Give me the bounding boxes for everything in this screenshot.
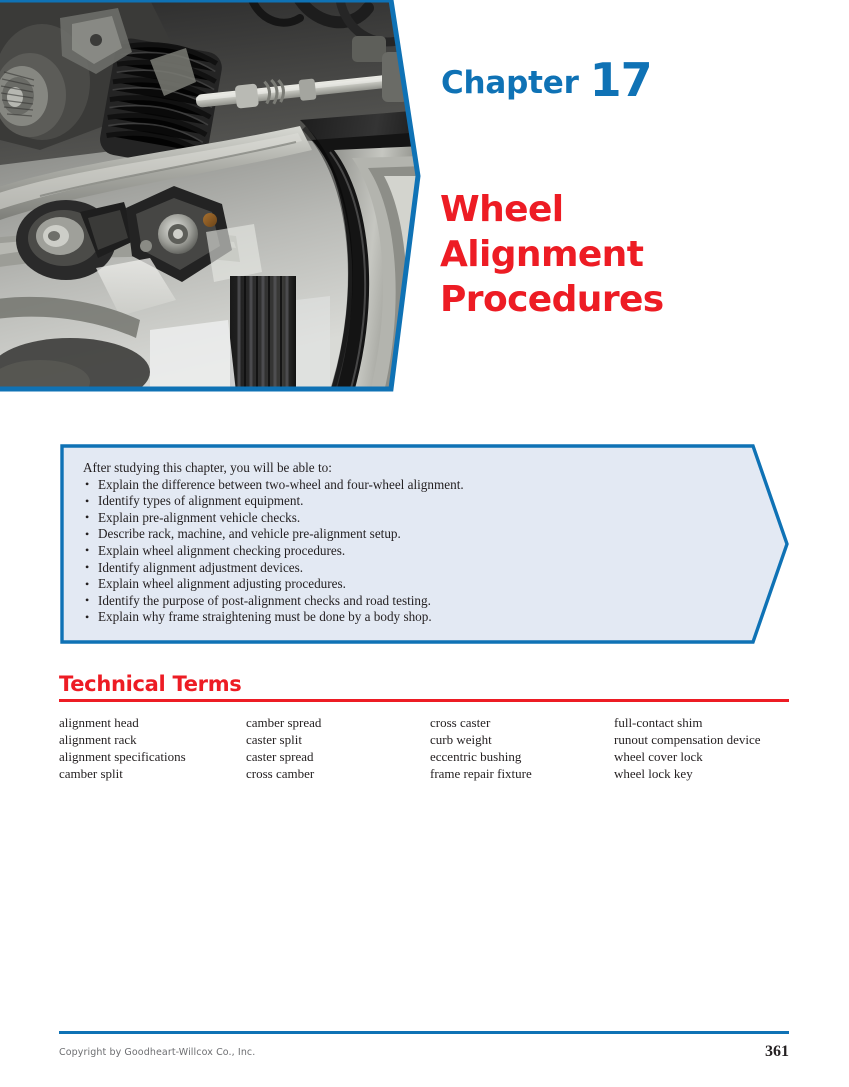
chapter-label: Chapter17: [441, 57, 652, 103]
technical-term: cross camber: [246, 765, 430, 782]
technical-term: eccentric bushing: [430, 748, 614, 765]
technical-term: camber spread: [246, 714, 430, 731]
technical-terms-columns: alignment head alignment rack alignment …: [59, 714, 789, 783]
technical-term: wheel cover lock: [614, 748, 789, 765]
technical-term: cross caster: [430, 714, 614, 731]
technical-terms-column: alignment head alignment rack alignment …: [59, 714, 246, 783]
page-title-line-2: Procedures: [440, 277, 770, 322]
page-title: Wheel Alignment Procedures: [440, 187, 770, 322]
objective-item: Explain pre-alignment vehicle checks.: [83, 510, 723, 527]
technical-term: curb weight: [430, 731, 614, 748]
technical-term: wheel lock key: [614, 765, 789, 782]
technical-term: caster split: [246, 731, 430, 748]
technical-term: full-contact shim: [614, 714, 789, 731]
technical-terms-column: full-contact shim runout compensation de…: [614, 714, 789, 783]
objective-item: Describe rack, machine, and vehicle pre-…: [83, 526, 723, 543]
technical-terms-column: camber spread caster split caster spread…: [246, 714, 430, 783]
objectives-content: After studying this chapter, you will be…: [83, 460, 723, 626]
objective-item: Explain why frame straightening must be …: [83, 609, 723, 626]
objective-item: Explain the difference between two-wheel…: [83, 477, 723, 494]
footer-copyright: Copyright by Goodheart-Willcox Co., Inc.: [59, 1047, 255, 1058]
technical-term: runout compensation device: [614, 731, 789, 748]
page-number: 361: [765, 1043, 789, 1061]
chapter-number: 17: [590, 53, 652, 107]
objectives-list: Explain the difference between two-wheel…: [83, 477, 723, 626]
technical-terms-column: cross caster curb weight eccentric bushi…: [430, 714, 614, 783]
technical-term: frame repair fixture: [430, 765, 614, 782]
technical-terms-rule: [59, 699, 789, 702]
objective-item: Identify alignment adjustment devices.: [83, 560, 723, 577]
technical-term: camber split: [59, 765, 246, 782]
page-title-line-1: Wheel Alignment: [440, 187, 770, 277]
technical-term: alignment head: [59, 714, 246, 731]
objectives-intro: After studying this chapter, you will be…: [83, 460, 723, 477]
technical-terms-section: Technical Terms alignment head alignment…: [59, 672, 789, 782]
technical-term: alignment specifications: [59, 748, 246, 765]
chapter-hero-photo: [0, 0, 424, 392]
objectives-callout: After studying this chapter, you will be…: [60, 444, 789, 644]
objective-item: Identify types of alignment equipment.: [83, 493, 723, 510]
technical-terms-heading: Technical Terms: [59, 672, 789, 696]
footer-rule: [59, 1031, 789, 1034]
technical-term: caster spread: [246, 748, 430, 765]
hero-photo-content: [0, 0, 424, 392]
chapter-word: Chapter: [441, 65, 579, 101]
objective-item: Explain wheel alignment checking procedu…: [83, 543, 723, 560]
technical-term: alignment rack: [59, 731, 246, 748]
objective-item: Explain wheel alignment adjusting proced…: [83, 576, 723, 593]
objective-item: Identify the purpose of post-alignment c…: [83, 593, 723, 610]
